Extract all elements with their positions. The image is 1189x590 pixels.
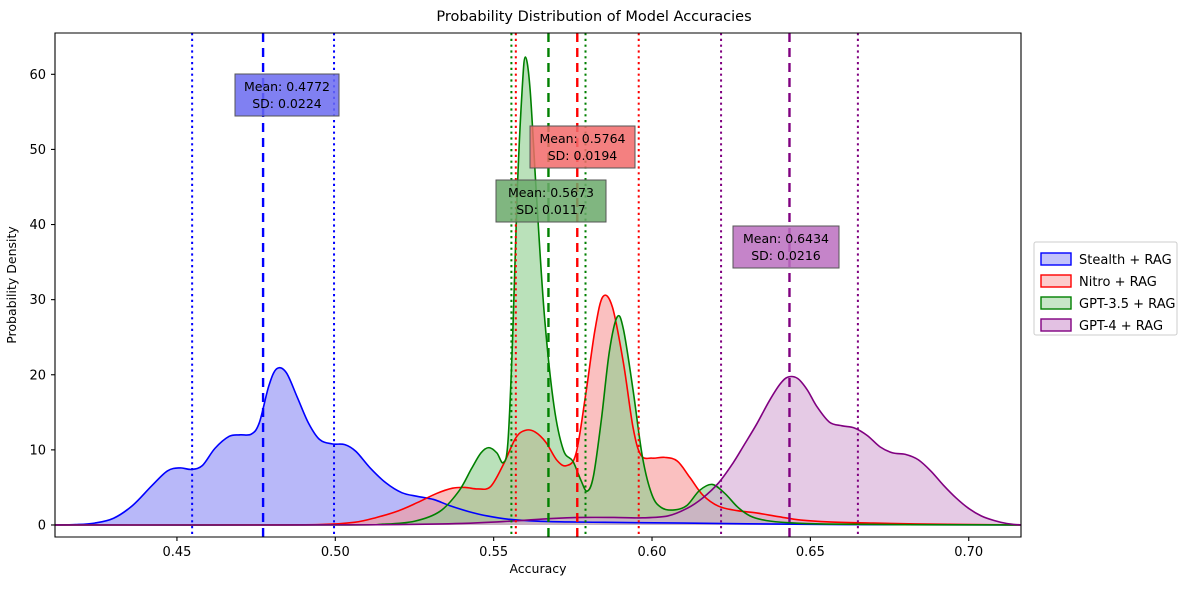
stealth-annotation-mean-label: Mean: 0.4772 <box>244 79 330 94</box>
legend-label-2: GPT-3.5 + RAG <box>1079 297 1175 312</box>
legend-label-0: Stealth + RAG <box>1079 253 1172 268</box>
figure-container: Probability Distribution of Model Accura… <box>0 0 1189 590</box>
y-tick-label-6: 60 <box>29 68 46 83</box>
x-tick-label-4: 0.65 <box>796 545 825 560</box>
legend-swatch-1 <box>1041 275 1071 287</box>
nitro-annotation: Mean: 0.5764SD: 0.0194 <box>530 126 635 168</box>
nitro-annotation-sd-label: SD: 0.0194 <box>548 148 618 163</box>
x-axis-label: Accuracy <box>509 561 567 576</box>
legend-swatch-2 <box>1041 297 1071 309</box>
probability-distribution-chart: Probability Distribution of Model Accura… <box>0 0 1189 590</box>
nitro-annotation-mean-label: Mean: 0.5764 <box>540 131 626 146</box>
x-tick-label-2: 0.55 <box>479 545 508 560</box>
legend-label-1: Nitro + RAG <box>1079 275 1157 290</box>
stealth-annotation: Mean: 0.4772SD: 0.0224 <box>235 74 339 116</box>
gpt4-annotation: Mean: 0.6434SD: 0.0216 <box>733 226 839 268</box>
gpt35-annotation: Mean: 0.5673SD: 0.0117 <box>496 180 606 222</box>
x-tick-label-3: 0.60 <box>638 545 667 560</box>
y-tick-label-3: 30 <box>29 293 46 308</box>
gpt35-annotation-sd-label: SD: 0.0117 <box>516 202 585 217</box>
x-tick-label-0: 0.45 <box>162 545 191 560</box>
x-tick-label-1: 0.50 <box>321 545 350 560</box>
chart-legend[interactable]: Stealth + RAGNitro + RAGGPT-3.5 + RAGGPT… <box>1034 242 1177 335</box>
legend-swatch-3 <box>1041 319 1071 331</box>
page-title: Probability Distribution of Model Accura… <box>436 9 751 25</box>
x-tick-label-5: 0.70 <box>954 545 983 560</box>
legend-swatch-0 <box>1041 253 1071 265</box>
y-tick-label-0: 0 <box>38 518 46 533</box>
y-tick-label-2: 20 <box>29 368 46 383</box>
y-tick-label-4: 40 <box>29 218 46 233</box>
legend-label-3: GPT-4 + RAG <box>1079 319 1163 334</box>
y-axis-label: Probability Density <box>4 226 19 344</box>
y-tick-label-1: 10 <box>29 443 46 458</box>
gpt35-annotation-mean-label: Mean: 0.5673 <box>508 185 594 200</box>
y-tick-label-5: 50 <box>29 143 46 158</box>
gpt4-annotation-sd-label: SD: 0.0216 <box>751 248 821 263</box>
stealth-annotation-sd-label: SD: 0.0224 <box>252 96 322 111</box>
gpt4-annotation-mean-label: Mean: 0.6434 <box>743 231 829 246</box>
